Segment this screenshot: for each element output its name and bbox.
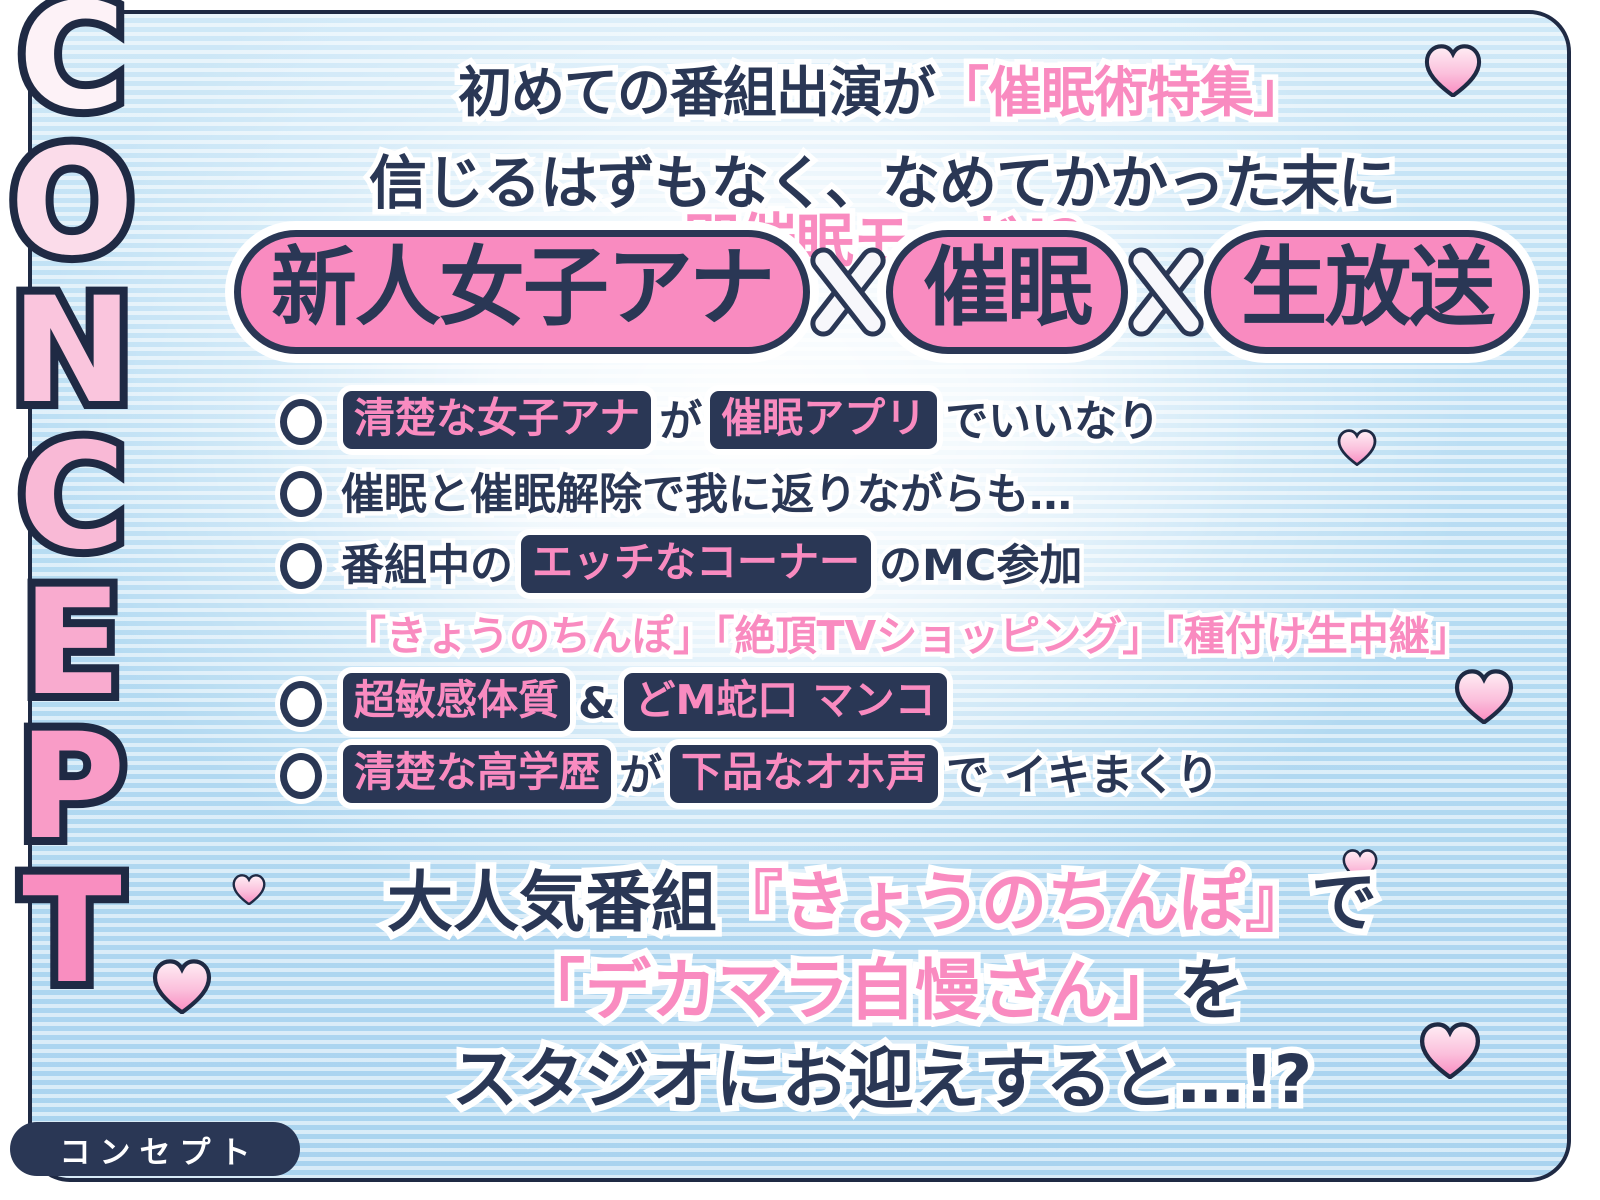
closing-line-2: 「デカマラ自慢さん」を bbox=[182, 947, 1571, 1035]
title-pill-1: 新人女子アナ bbox=[234, 230, 810, 354]
headline-line-1-text: 初めての番組出演が bbox=[458, 61, 935, 124]
section-label-letter: T bbox=[0, 858, 144, 1004]
title-pill-2: 催眠 bbox=[886, 230, 1128, 354]
highlight-chip: 超敏感体質 bbox=[343, 673, 570, 731]
section-label-letter: C bbox=[0, 0, 144, 130]
feature-text: 超敏感体質&どM蛇口 マンコ bbox=[338, 675, 952, 733]
highlight-chip-label: 超敏感体質 bbox=[354, 680, 559, 721]
feature-text: 催眠と催眠解除で我に返りながらも… bbox=[338, 472, 1075, 517]
title-pill-3-label: 生放送 bbox=[1241, 245, 1493, 331]
bullet-circle-icon bbox=[280, 681, 322, 727]
closing-line-2-a: 「デカマラ自慢さん」 bbox=[519, 952, 1179, 1029]
feature-text-segment: が bbox=[659, 401, 702, 444]
section-label-letter: O bbox=[0, 130, 144, 276]
headline-line-1: 初めての番組出演が「催眠術特集」 bbox=[182, 66, 1571, 120]
section-label-letter: P bbox=[0, 714, 144, 860]
feature-bullet-row: 超敏感体質&どM蛇口 マンコ bbox=[280, 668, 1570, 740]
feature-bullet-row: 清楚な女子アナが催眠アプリでいいなり bbox=[280, 386, 1570, 458]
feature-text: 清楚な女子アナが催眠アプリでいいなり bbox=[338, 393, 1163, 451]
concept-section: 初めての番組出演が「催眠術特集」 信じるはずもなく、なめてかかった末に即催眠モー… bbox=[0, 0, 1600, 1200]
feature-text-segment: 番組中の bbox=[341, 545, 513, 588]
highlight-chip-label: どM蛇口 マンコ bbox=[635, 680, 936, 721]
closing-line-3: スタジオにお迎えすると…!? bbox=[182, 1036, 1571, 1124]
feature-bullet-row: 催眠と催眠解除で我に返りながらも… bbox=[280, 458, 1570, 530]
highlight-chip: どM蛇口 マンコ bbox=[624, 673, 947, 731]
section-label-letter: C bbox=[0, 424, 144, 570]
closing-line-1: 大人気番組『きょうのちんぽ』で bbox=[182, 859, 1571, 947]
highlight-chip: 清楚な女子アナ bbox=[343, 391, 651, 449]
feature-bullet-row: 番組中のエッチなコーナーのMC参加 bbox=[280, 530, 1570, 602]
highlight-chip: 清楚な高学歴 bbox=[343, 745, 611, 803]
x-cross-icon bbox=[800, 244, 896, 340]
title-pill-1-label: 新人女子アナ bbox=[271, 245, 773, 331]
closing-block: 大人気番組『きょうのちんぽ』で 「デカマラ自慢さん」を スタジオにお迎えすると…… bbox=[182, 859, 1571, 1124]
headline-line-1-highlight: 「催眠術特集」 bbox=[935, 61, 1306, 124]
x-cross-icon bbox=[1118, 244, 1214, 340]
highlight-chip: 下品なオホ声 bbox=[670, 745, 938, 803]
highlight-chip: 催眠アプリ bbox=[710, 391, 937, 449]
feature-text-segment: で イキまくり bbox=[946, 755, 1219, 798]
closing-line-1-c: で bbox=[1311, 864, 1377, 941]
feature-text-segment: が bbox=[619, 755, 662, 798]
feature-text-segment: のMC参加 bbox=[879, 545, 1082, 588]
bullet-circle-icon bbox=[280, 471, 322, 517]
title-pill-row: 新人女子アナ 催眠 生放送 bbox=[182, 230, 1571, 354]
bullet-circle-icon bbox=[280, 543, 322, 589]
title-pill-3: 生放送 bbox=[1204, 230, 1530, 354]
highlight-chip-label: 催眠アプリ bbox=[721, 398, 926, 439]
closing-line-3-text: スタジオにお迎えすると…!? bbox=[452, 1041, 1312, 1118]
feature-text: 「きょうのちんぽ」「絶頂TVショッピング」「種付け生中継」 bbox=[342, 613, 1474, 657]
closing-line-2-b: を bbox=[1179, 952, 1245, 1029]
feature-subline: 「きょうのちんぽ」「絶頂TVショッピング」「種付け生中継」 bbox=[280, 602, 1570, 668]
highlight-chip-label: エッチなコーナー bbox=[532, 542, 860, 583]
bullet-circle-icon bbox=[280, 753, 322, 799]
highlight-chip-label: 下品なオホ声 bbox=[681, 752, 927, 793]
highlight-chip: エッチなコーナー bbox=[521, 535, 871, 593]
feature-text-segment: 催眠と催眠解除で我に返りながらも… bbox=[341, 474, 1072, 517]
feature-text-segment: 「きょうのちんぽ」「絶頂TVショッピング」「種付け生中継」 bbox=[345, 616, 1471, 657]
feature-text-segment: & bbox=[578, 683, 616, 726]
feature-text: 清楚な高学歴が下品なオホ声で イキまくり bbox=[338, 747, 1222, 805]
feature-bullet-list: 清楚な女子アナが催眠アプリでいいなり催眠と催眠解除で我に返りながらも…番組中のエ… bbox=[280, 386, 1570, 812]
section-label-vertical: CONCEPT bbox=[0, 0, 150, 1120]
highlight-chip-label: 清楚な女子アナ bbox=[354, 398, 640, 439]
feature-bullet-row: 清楚な高学歴が下品なオホ声で イキまくり bbox=[280, 740, 1570, 812]
closing-line-1-b: 『きょうのちんぽ』 bbox=[717, 864, 1311, 941]
highlight-chip-label: 清楚な高学歴 bbox=[354, 752, 600, 793]
section-label-letter: E bbox=[0, 570, 144, 716]
section-label-pill-text: コンセプト bbox=[51, 1127, 260, 1172]
feature-text: 番組中のエッチなコーナーのMC参加 bbox=[338, 537, 1085, 595]
concept-panel: 初めての番組出演が「催眠術特集」 信じるはずもなく、なめてかかった末に即催眠モー… bbox=[28, 10, 1571, 1182]
title-pill-2-label: 催眠 bbox=[923, 245, 1091, 331]
closing-line-1-a: 大人気番組 bbox=[387, 864, 717, 941]
concept-content: 初めての番組出演が「催眠術特集」 信じるはずもなく、なめてかかった末に即催眠モー… bbox=[182, 14, 1571, 1182]
section-label-pill: コンセプト bbox=[10, 1122, 300, 1176]
section-label-letter: N bbox=[0, 278, 144, 424]
bullet-circle-icon bbox=[280, 399, 322, 445]
feature-text-segment: でいいなり bbox=[945, 401, 1160, 444]
